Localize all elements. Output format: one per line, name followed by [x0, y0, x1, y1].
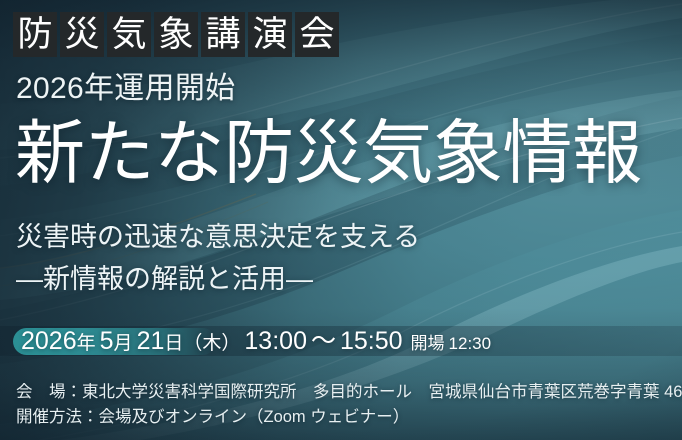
year-unit: 年	[77, 333, 96, 354]
subtitle-line-1: 災害時の迅速な意思決定を支える	[16, 220, 420, 254]
schedule-line: 2026年5月21日（木）13:00〜15:50開場12:30	[21, 327, 491, 358]
venue-line: 会 場：東北大学災害科学国際研究所 多目的ホール 宮城県仙台市青葉区荒巻字青葉 …	[16, 381, 682, 403]
title-char-box: 気	[107, 12, 151, 57]
event-month: 5	[100, 327, 114, 355]
day-unit: 日	[164, 333, 183, 354]
event-year: 2026	[21, 327, 77, 355]
month-unit: 月	[114, 333, 133, 354]
title-char-box: 演	[248, 12, 292, 57]
event-series-title: 防 災 気 象 講 演 会	[13, 12, 339, 57]
event-day: 21	[137, 327, 165, 355]
title-char-box: 防	[13, 12, 57, 57]
doors-open-label: 開場	[411, 334, 445, 353]
subtitle-line-2: ―新情報の解説と活用―	[16, 262, 313, 296]
title-char-box: 象	[154, 12, 198, 57]
title-char-box: 講	[201, 12, 245, 57]
time-separator: 〜	[311, 327, 336, 355]
doors-open-time: 12:30	[449, 334, 492, 353]
banner-content: 防 災 気 象 講 演 会 2026年運用開始 新たな防災気象情報 災害時の迅速…	[0, 0, 682, 440]
event-start-time: 13:00	[244, 327, 307, 355]
event-end-time: 15:50	[340, 327, 403, 355]
title-char-box: 災	[60, 12, 104, 57]
seminar-banner: 防 災 気 象 講 演 会 2026年運用開始 新たな防災気象情報 災害時の迅速…	[0, 0, 682, 440]
format-line: 開催方法：会場及びオンライン（Zoom ウェビナー）	[16, 406, 409, 428]
page-title: 新たな防災気象情報	[15, 112, 642, 194]
title-char-box: 会	[295, 12, 339, 57]
kicker-text: 2026年運用開始	[16, 71, 235, 107]
event-weekday: （木）	[183, 333, 240, 354]
